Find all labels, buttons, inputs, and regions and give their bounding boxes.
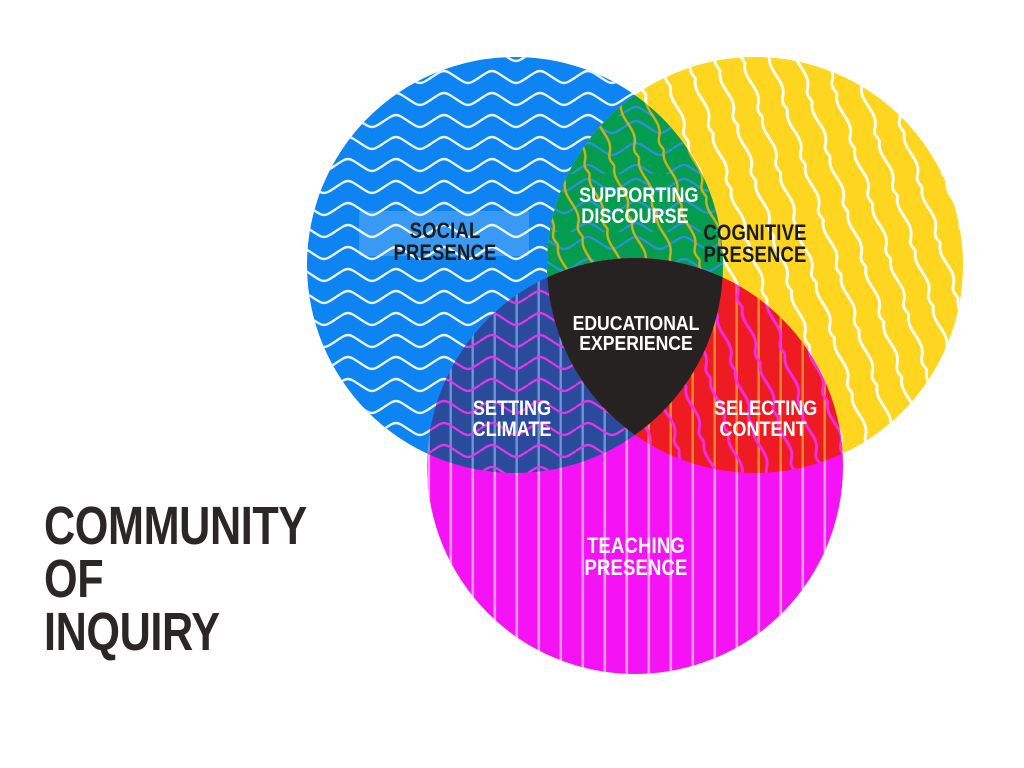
page-title: COMMUNITY OF INQUIRY (44, 500, 316, 659)
venn-diagram-canvas: COMMUNITY OF INQUIRY SOCIAL PRESENCE COG… (0, 0, 1024, 768)
social-presence-label-backdrop (359, 211, 529, 256)
